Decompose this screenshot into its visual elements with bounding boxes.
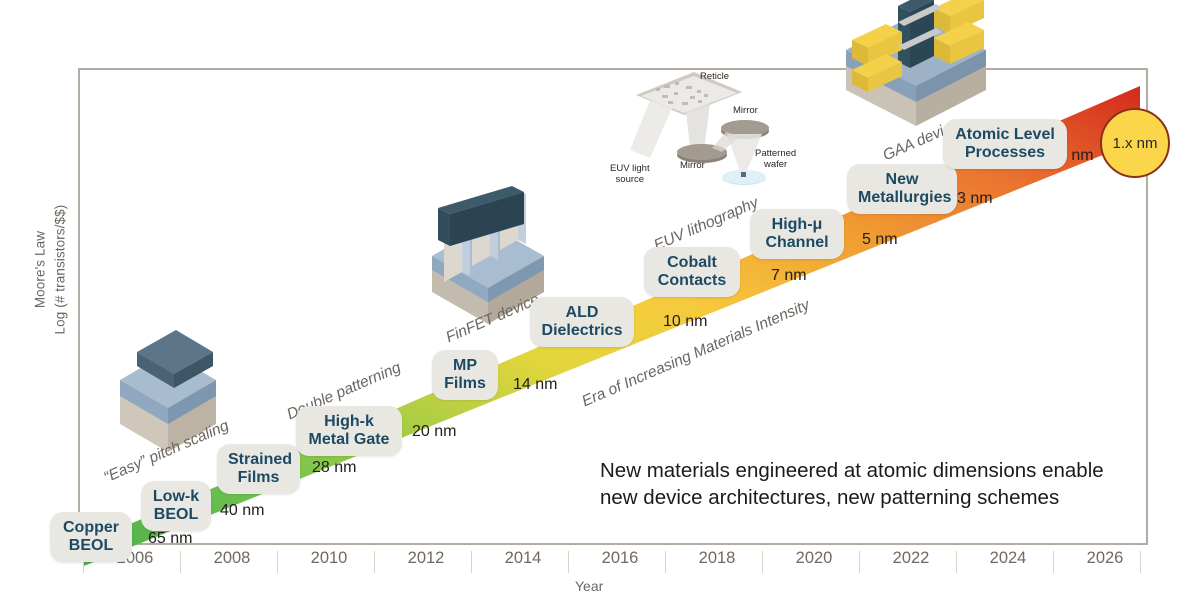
- x-tick-2012: 2012: [391, 549, 461, 568]
- euv-wafer-line1: Patterned: [755, 148, 796, 159]
- milestone-copper-beol[interactable]: Copper BEOL: [50, 512, 132, 562]
- milestone-atomic-level-processes[interactable]: Atomic Level Processes: [943, 119, 1067, 169]
- x-tick-2016: 2016: [585, 549, 655, 568]
- milestone-high-mu-channel-line2: Channel: [761, 234, 833, 252]
- milestone-atomic-level-processes-line2: Processes: [954, 144, 1056, 162]
- x-tick-2024: 2024: [973, 549, 1043, 568]
- milestone-cobalt-contacts-line1: Cobalt: [655, 254, 729, 272]
- euv-mirror-lower-label: Mirror: [680, 160, 705, 171]
- milestone-cobalt-contacts[interactable]: Cobalt Contacts: [644, 247, 740, 297]
- milestone-strained-films-line2: Films: [228, 469, 289, 487]
- milestone-ald-dielectrics-line1: ALD: [541, 304, 623, 322]
- milestone-high-k-metal-gate-line2: Metal Gate: [307, 431, 391, 449]
- milestone-1x-nm-label: 1.x nm: [1112, 135, 1157, 152]
- euv-mirror-upper-label: Mirror: [733, 105, 758, 116]
- milestone-new-metallurgies[interactable]: New Metallurgies: [847, 164, 957, 214]
- x-tick-2022: 2022: [876, 549, 946, 568]
- y-axis-label: Moore's Law Log (# transistors/$$): [30, 160, 69, 380]
- summary-callout-line1: New materials engineered at atomic dimen…: [600, 458, 1140, 485]
- euv-reticle-label: Reticle: [700, 71, 729, 82]
- milestone-high-k-metal-gate-line1: High-k: [307, 413, 391, 431]
- node-label-7nm: 7 nm: [771, 267, 807, 285]
- x-tick-2020: 2020: [779, 549, 849, 568]
- summary-callout-line2: new device architectures, new patterning…: [600, 485, 1140, 512]
- node-label-10nm: 10 nm: [663, 313, 707, 331]
- milestone-new-metallurgies-line1: New: [858, 171, 946, 189]
- x-tick-2014: 2014: [488, 549, 558, 568]
- milestone-ald-dielectrics-line2: Dielectrics: [541, 322, 623, 340]
- x-tick-2008: 2008: [197, 549, 267, 568]
- milestone-mp-films-line2: Films: [443, 375, 487, 393]
- milestone-mp-films-line1: MP: [443, 357, 487, 375]
- x-axis-title: Year: [575, 578, 603, 594]
- milestone-high-mu-channel-line1: High-μ: [761, 216, 833, 234]
- euv-wafer-label: Patterned wafer: [755, 148, 796, 171]
- x-tick-2010: 2010: [294, 549, 364, 568]
- x-tick-2026: 2026: [1070, 549, 1140, 568]
- milestone-copper-beol-line2: BEOL: [61, 537, 121, 555]
- milestone-copper-beol-line1: Copper: [61, 519, 121, 537]
- x-axis: 2006 2008 2010 2012 2014 2016 2018 2020 …: [78, 549, 1150, 579]
- roadmap-chart: Moore's Law Log (# transistors/$$) 2006 …: [0, 0, 1200, 600]
- milestone-high-mu-channel[interactable]: High-μ Channel: [750, 209, 844, 259]
- y-axis-line1: Moore's Law: [30, 160, 50, 380]
- milestone-strained-films-line1: Strained: [228, 451, 289, 469]
- milestone-cobalt-contacts-line2: Contacts: [655, 272, 729, 290]
- euv-wafer-line2: wafer: [755, 159, 796, 170]
- euv-source-line2: source: [610, 174, 650, 185]
- node-label-40nm: 40 nm: [220, 502, 264, 520]
- milestone-high-k-metal-gate[interactable]: High-k Metal Gate: [296, 406, 402, 456]
- milestone-low-k-beol-line2: BEOL: [152, 506, 200, 524]
- node-label-14nm: 14 nm: [513, 376, 557, 394]
- milestone-ald-dielectrics[interactable]: ALD Dielectrics: [530, 297, 634, 347]
- x-tick-2018: 2018: [682, 549, 752, 568]
- gaa-device-illustration: [846, 0, 986, 126]
- euv-source-label: EUV light source: [610, 163, 650, 186]
- node-label-20nm: 20 nm: [412, 423, 456, 441]
- node-label-65nm: 65 nm: [148, 530, 192, 548]
- milestone-atomic-level-processes-line1: Atomic Level: [954, 126, 1056, 144]
- milestone-low-k-beol[interactable]: Low-k BEOL: [141, 481, 211, 531]
- node-label-28nm: 28 nm: [312, 459, 356, 477]
- milestone-new-metallurgies-line2: Metallurgies: [858, 189, 946, 207]
- milestone-low-k-beol-line1: Low-k: [152, 488, 200, 506]
- milestone-1x-nm[interactable]: 1.x nm: [1100, 108, 1170, 178]
- euv-source-line1: EUV light: [610, 163, 650, 174]
- y-axis-line2: Log (# transistors/$$): [50, 160, 70, 380]
- summary-callout: New materials engineered at atomic dimen…: [600, 458, 1140, 511]
- milestone-mp-films[interactable]: MP Films: [432, 350, 498, 400]
- milestone-strained-films[interactable]: Strained Films: [217, 444, 300, 494]
- node-label-5nm: 5 nm: [862, 231, 898, 249]
- node-label-3nm: 3 nm: [957, 190, 993, 208]
